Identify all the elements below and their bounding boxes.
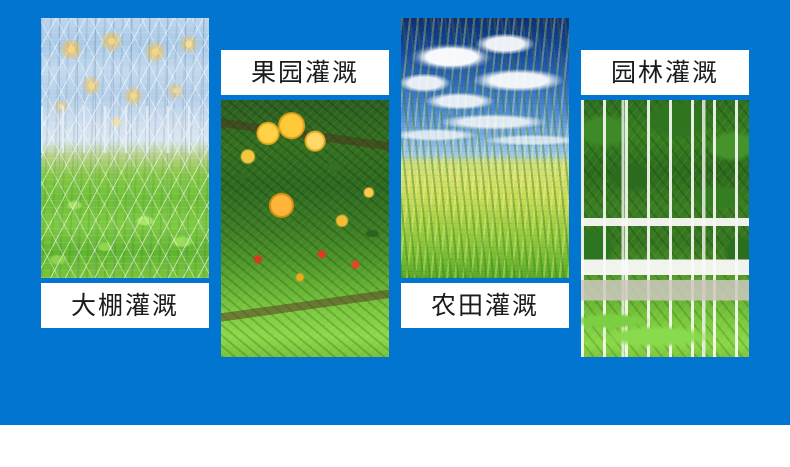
scene-label-farmland: 农田灌溉 xyxy=(431,293,539,318)
scene-image-garden[interactable] xyxy=(581,100,749,357)
garden-photo xyxy=(581,100,749,357)
scene-caption-farmland[interactable]: 农田灌溉 xyxy=(401,283,569,328)
scene-image-greenhouse[interactable] xyxy=(41,18,209,278)
orchard-photo xyxy=(221,100,389,357)
scene-label-orchard: 果园灌溉 xyxy=(251,60,359,85)
scene-image-farmland[interactable] xyxy=(401,18,569,278)
scene-image-orchard[interactable] xyxy=(221,100,389,357)
scene-caption-greenhouse[interactable]: 大棚灌溉 xyxy=(41,283,209,328)
scene-label-greenhouse: 大棚灌溉 xyxy=(71,293,179,318)
scene-label-garden: 园林灌溉 xyxy=(611,60,719,85)
greenhouse-photo xyxy=(41,18,209,278)
scene-caption-orchard[interactable]: 果园灌溉 xyxy=(221,50,389,95)
scene-caption-garden[interactable]: 园林灌溉 xyxy=(581,50,749,95)
farmland-photo xyxy=(401,18,569,278)
irrigation-scenes-banner: 大棚灌溉 果园灌溉 农田灌溉 园林灌溉 xyxy=(0,0,790,467)
